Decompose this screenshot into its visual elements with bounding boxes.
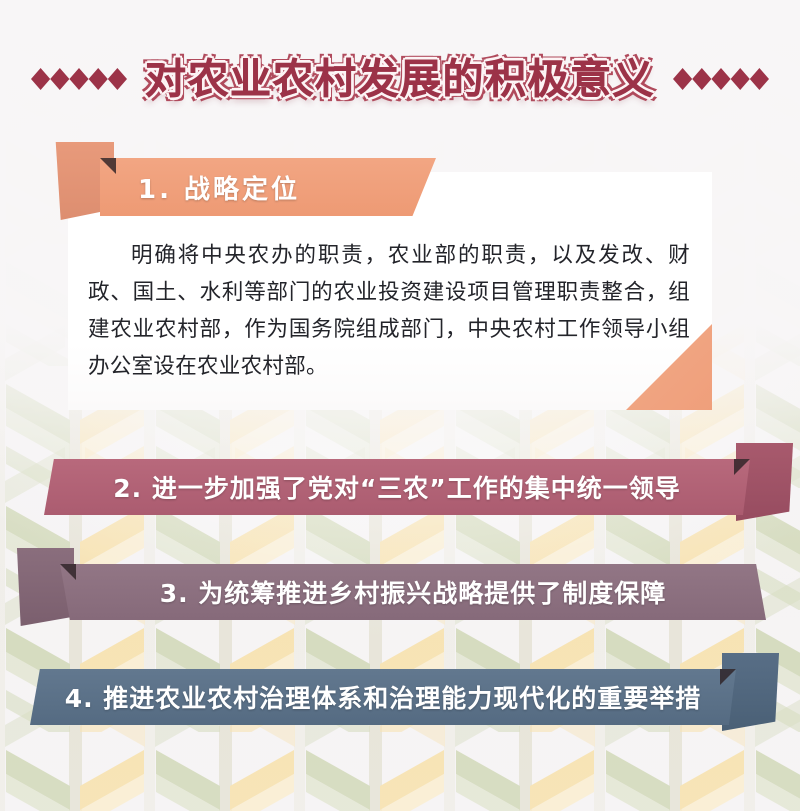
point-ribbon-2[interactable]: 2. 进一步加强了党对“三农”工作的集中统一领导 bbox=[44, 459, 750, 515]
point-ribbon-3[interactable]: 3. 为统筹推进乡村振兴战略提供了制度保障 bbox=[60, 564, 766, 620]
card-body-text: 明确将中央农办的职责，农业部的职责，以及发改、财政、国土、水利等部门的农业投资建… bbox=[68, 237, 712, 385]
ribbon-body-2: 2. 进一步加强了党对“三农”工作的集中统一领导 bbox=[44, 459, 750, 515]
page-title-row: 对农业农村发展的积极意义 bbox=[0, 48, 800, 110]
point-ribbon-1[interactable]: 1. 战略定位 bbox=[100, 158, 436, 216]
point-ribbon-4[interactable]: 4. 推进农业农村治理体系和治理能力现代化的重要举措 bbox=[30, 669, 736, 725]
poster-root: 对农业农村发展的积极意义 1. 战略定位 明确将中央农办的职责，农业部的职责，以… bbox=[0, 0, 800, 811]
page-title: 对农业农村发展的积极意义 bbox=[145, 57, 655, 102]
point-label-2: 2. 进一步加强了党对“三农”工作的集中统一领导 bbox=[44, 469, 750, 505]
zigzag-ornament-right bbox=[673, 66, 769, 92]
ribbon-body-3: 3. 为统筹推进乡村振兴战略提供了制度保障 bbox=[60, 564, 766, 620]
point-label-1: 1. 战略定位 bbox=[138, 169, 436, 206]
point-label-3: 3. 为统筹推进乡村振兴战略提供了制度保障 bbox=[60, 574, 766, 610]
point-label-4: 4. 推进农业农村治理体系和治理能力现代化的重要举措 bbox=[30, 679, 736, 715]
zigzag-ornament-left bbox=[31, 66, 127, 92]
ribbon-body-4: 4. 推进农业农村治理体系和治理能力现代化的重要举措 bbox=[30, 669, 736, 725]
ribbon-body-1: 1. 战略定位 bbox=[100, 158, 436, 216]
